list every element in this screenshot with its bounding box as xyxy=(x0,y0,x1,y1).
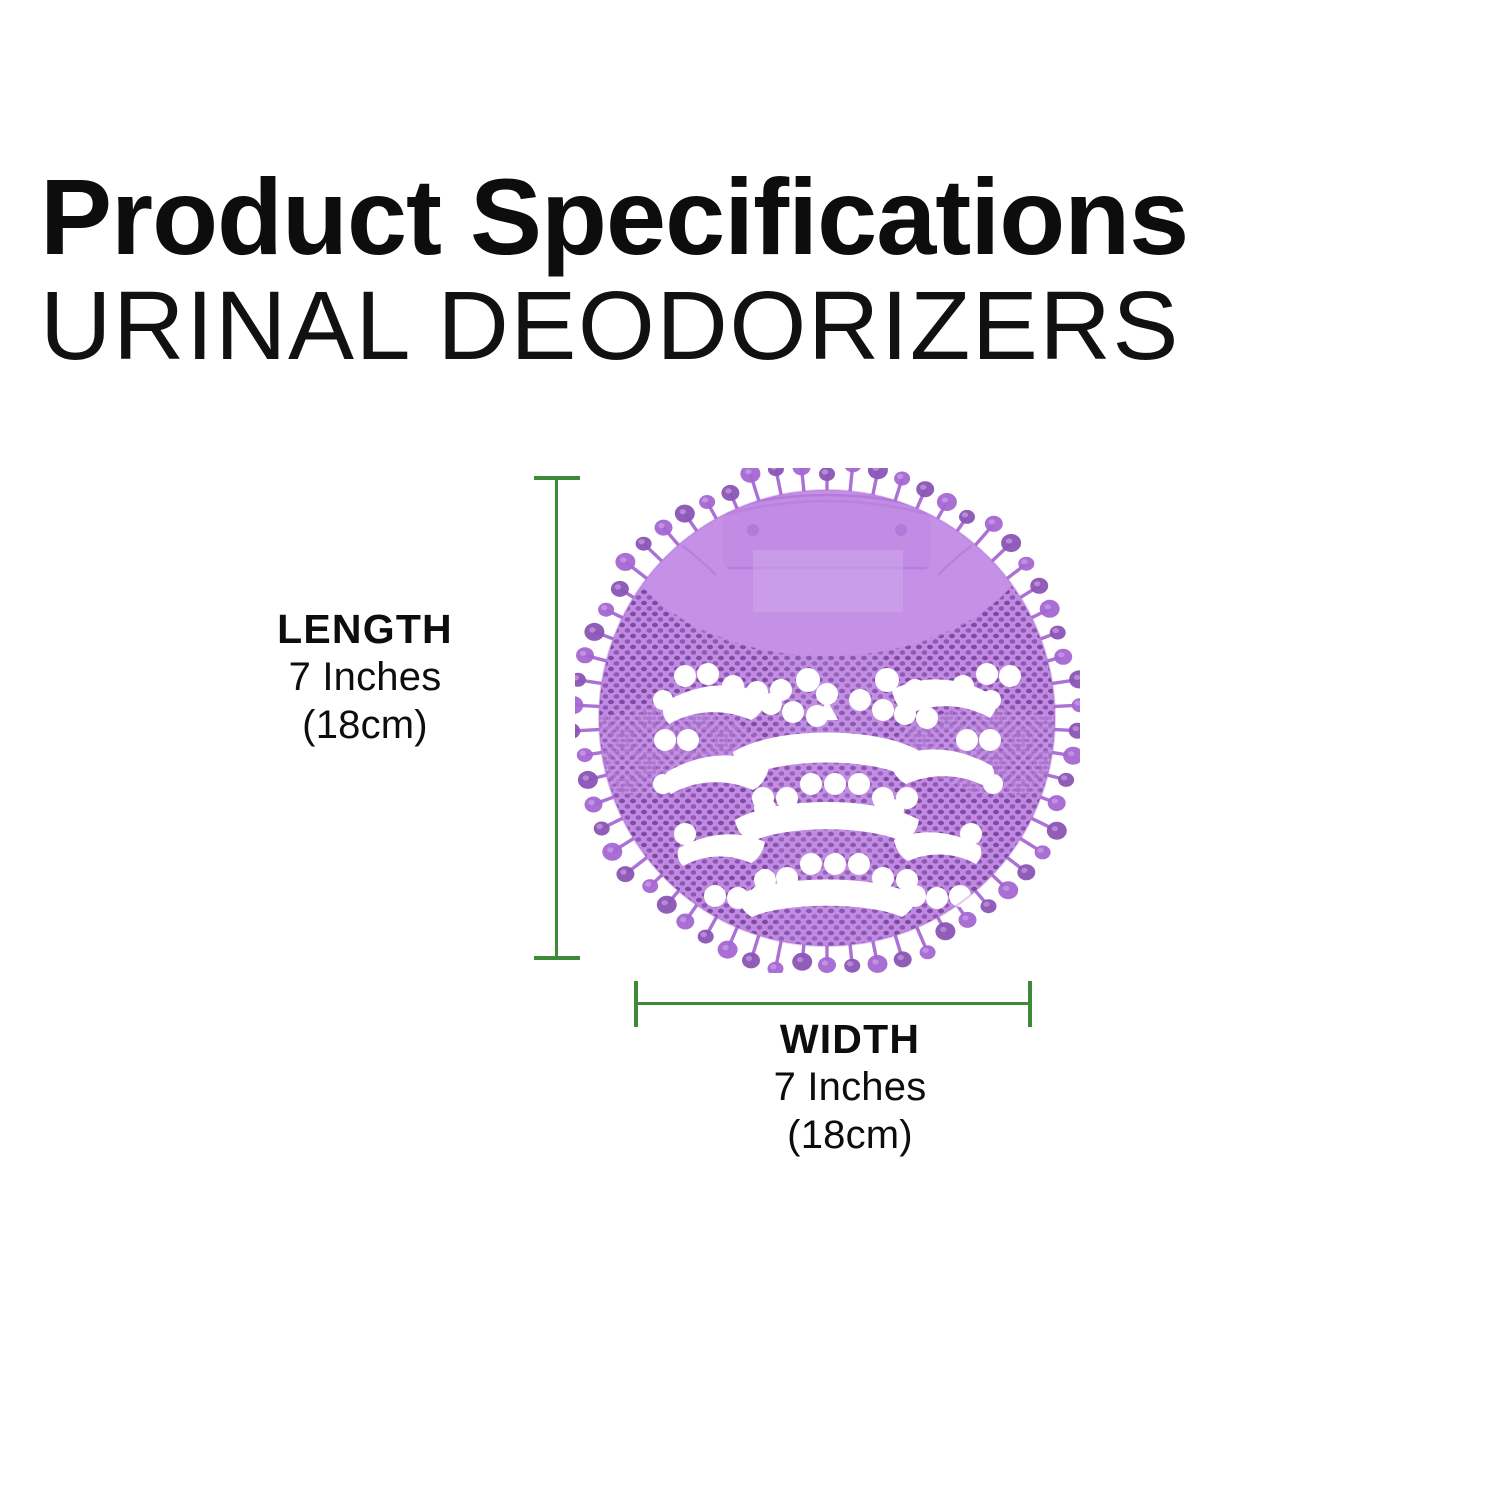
length-label-value: 7 Inches xyxy=(200,653,530,701)
length-label-name: LENGTH xyxy=(200,605,530,653)
product-image-urinal-screen xyxy=(575,468,1080,973)
width-label-value: 7 Inches xyxy=(660,1063,1040,1111)
heading-block: Product Specifications URINAL DEODORIZER… xyxy=(40,160,1460,379)
width-guide-line xyxy=(635,1002,1031,1005)
date-hole-left xyxy=(747,524,759,536)
width-label-name: WIDTH xyxy=(660,1015,1040,1063)
length-guide-bottom-cap xyxy=(534,956,580,960)
length-dimension-label: LENGTH 7 Inches (18cm) xyxy=(200,605,530,749)
page-subtitle: URINAL DEODORIZERS xyxy=(40,274,1488,379)
width-dimension-label: WIDTH 7 Inches (18cm) xyxy=(660,1015,1040,1159)
length-guide-line xyxy=(555,478,558,960)
product-specifications-page: Product Specifications URINAL DEODORIZER… xyxy=(0,0,1500,1500)
width-label-metric: (18cm) xyxy=(660,1111,1040,1159)
length-label-metric: (18cm) xyxy=(200,701,530,749)
page-title: Product Specifications xyxy=(40,160,1460,274)
date-hole-right xyxy=(895,524,907,536)
